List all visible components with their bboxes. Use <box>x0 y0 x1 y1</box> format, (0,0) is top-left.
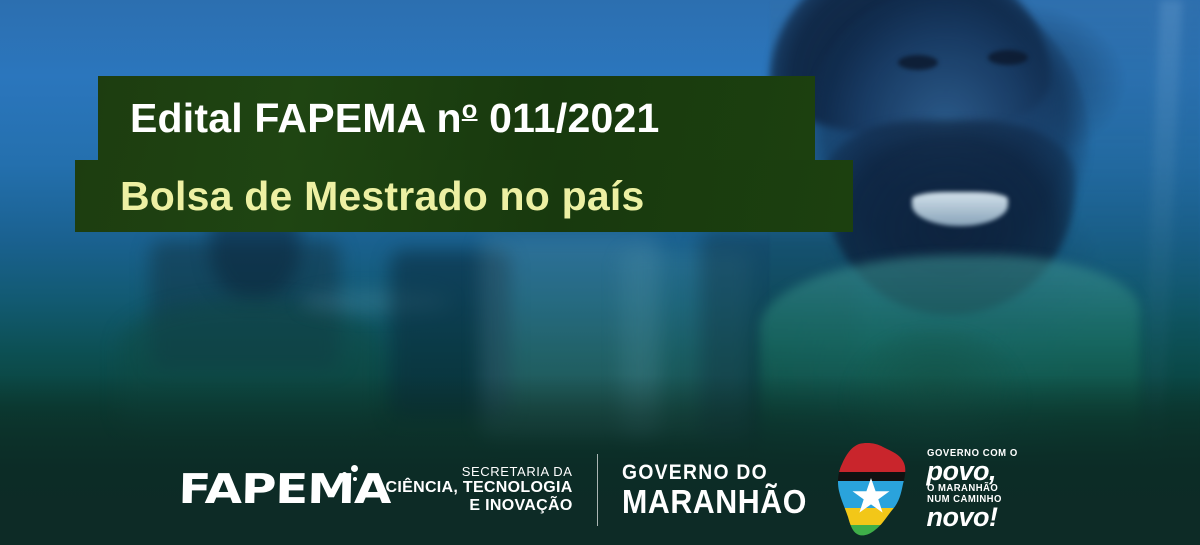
governo-wordmark: GOVERNO DO MARANHÃO <box>622 462 823 518</box>
fapema-logo: FAPEMA <box>178 469 358 510</box>
title-plate-secondary: Bolsa de Mestrado no país <box>75 160 853 232</box>
edital-banner: Edital FAPEMA no 011/2021 Bolsa de Mestr… <box>0 0 1200 545</box>
secretaria-line3: E INOVAÇÃO <box>386 497 573 515</box>
fapema-logo-group: FAPEMA SECRETARIA DA CIÊNCIA, TECNOLOGIA… <box>178 465 573 515</box>
ordinal-indicator: o <box>462 96 478 124</box>
slogan-line5: novo! <box>927 504 1023 532</box>
portrait-eye-shape <box>898 55 938 70</box>
portrait-eye-shape <box>988 50 1028 65</box>
page-title-line1: Edital FAPEMA no 011/2021 <box>130 98 659 139</box>
slogan-line1: GOVERNO COM O <box>927 449 1018 459</box>
governo-line2: MARANHÃO <box>622 485 807 518</box>
secretaria-line1: SECRETARIA DA <box>386 465 573 480</box>
governo-line1: GOVERNO DO <box>622 462 807 483</box>
secretaria-lockup: SECRETARIA DA CIÊNCIA, TECNOLOGIA E INOV… <box>386 465 573 515</box>
logo-divider <box>597 454 598 526</box>
fapema-dots-icon <box>338 465 364 487</box>
footer-logos: FAPEMA SECRETARIA DA CIÊNCIA, TECNOLOGIA… <box>0 435 1200 545</box>
page-title-line1-text: Edital FAPEMA n <box>130 95 462 141</box>
governo-logo-group: GOVERNO DO MARANHÃO <box>622 442 1023 538</box>
slogan-line2: povo, <box>927 458 1023 486</box>
page-title-line1-number: 011/2021 <box>478 95 660 141</box>
page-subtitle: Bolsa de Mestrado no país <box>120 176 644 217</box>
maranhao-flag-map-icon <box>829 442 913 538</box>
slogan-line4: NUM CAMINHO <box>927 495 1018 505</box>
governo-slogan: GOVERNO COM O povo, O MARANHÃO NUM CAMIN… <box>927 449 1023 532</box>
secretaria-line2: CIÊNCIA, TECNOLOGIA <box>386 479 573 497</box>
title-plate-primary: Edital FAPEMA no 011/2021 <box>98 76 815 160</box>
